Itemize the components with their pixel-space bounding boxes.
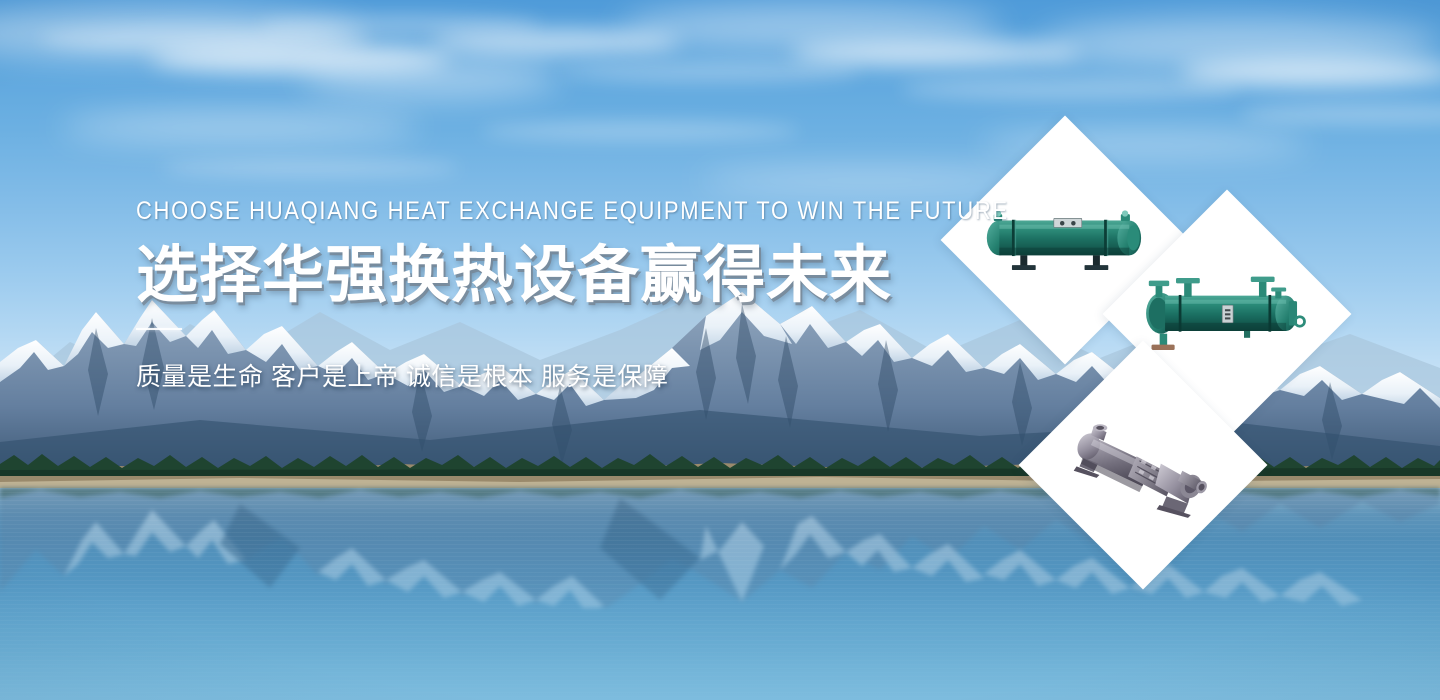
hero-banner: CHOOSE HUAQIANG HEAT EXCHANGE EQUIPMENT … (0, 0, 1440, 700)
banner-tagline: 质量是生命 客户是上帝 诚信是根本 服务是保障 (136, 360, 896, 394)
flanged-nozzle-heat-exchanger-image (1142, 271, 1312, 357)
cast-metal-oil-cooler-image (1068, 412, 1218, 518)
title-divider (136, 328, 182, 330)
banner-eyebrow-english: CHOOSE HUAQIANG HEAT EXCHANGE EQUIPMENT … (136, 196, 805, 226)
product-collage (955, 140, 1425, 600)
page-title: 选择华强换热设备赢得未来 (136, 240, 896, 312)
banner-copy: CHOOSE HUAQIANG HEAT EXCHANGE EQUIPMENT … (136, 196, 896, 394)
